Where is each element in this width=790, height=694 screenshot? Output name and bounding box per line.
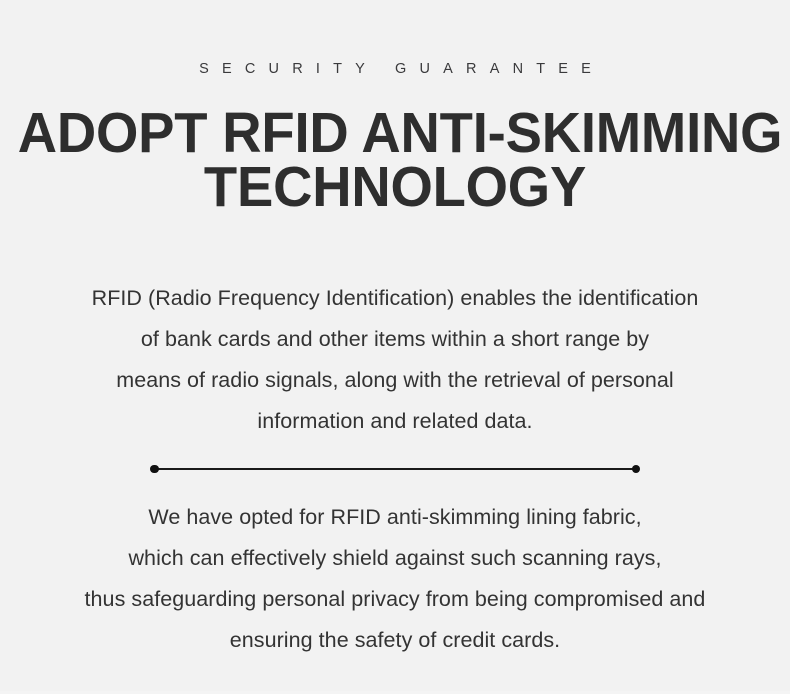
description-paragraph-one: RFID (Radio Frequency Identification) en… [0,278,790,442]
paragraph-two-line-4: ensuring the safety of credit cards. [0,620,790,661]
paragraph-two-line-2: which can effectively shield against suc… [0,538,790,579]
security-guarantee-banner: SECURITY GUARANTEE ADOPT RFID ANTI-SKIMM… [0,0,790,694]
paragraph-one-line-1: RFID (Radio Frequency Identification) en… [0,278,790,319]
paragraph-two-line-3: thus safeguarding personal privacy from … [0,579,790,620]
section-divider [150,464,640,474]
page-title-line-1: ADOPT RFID ANTI-SKIMMING [18,106,772,161]
dot-icon-left [150,465,159,474]
page-title: ADOPT RFID ANTI-SKIMMING TECHNOLOGY [18,106,772,215]
dot-icon-right [632,465,641,474]
paragraph-two-line-1: We have opted for RFID anti-skimming lin… [0,497,790,538]
description-paragraph-two: We have opted for RFID anti-skimming lin… [0,497,790,661]
page-title-line-2: TECHNOLOGY [18,160,772,215]
paragraph-one-line-4: information and related data. [0,401,790,442]
divider-rule [154,468,636,470]
eyebrow-label: SECURITY GUARANTEE [186,62,604,77]
paragraph-one-line-2: of bank cards and other items within a s… [0,319,790,360]
paragraph-one-line-3: means of radio signals, along with the r… [0,360,790,401]
